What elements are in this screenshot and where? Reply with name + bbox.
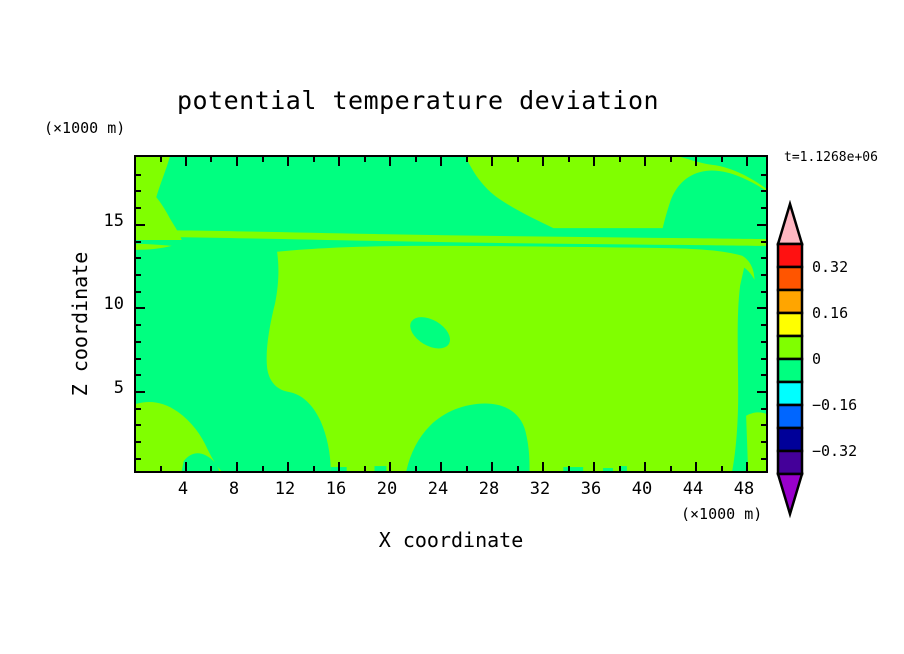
xaxis-top-tick-minor <box>364 157 366 162</box>
yaxis-tick-minor <box>136 257 141 259</box>
xaxis-tick-minor <box>517 466 519 471</box>
yaxis-tick-minor <box>136 291 141 293</box>
yaxis-right-tick-minor <box>761 424 766 426</box>
yaxis-right-tick-major <box>757 391 766 393</box>
xaxis-top-tick-minor <box>210 157 212 162</box>
colorbar-band <box>778 405 802 428</box>
yaxis-tick-minor <box>136 424 141 426</box>
colorbar <box>776 200 810 520</box>
colorbar-swatches <box>776 200 810 520</box>
yaxis-tick-minor <box>136 358 141 360</box>
yaxis-right-tick-major <box>757 224 766 226</box>
colorbar-cap-bottom <box>778 474 802 514</box>
yaxis-tick-major <box>136 224 145 226</box>
yaxis-right-tick-major <box>757 307 766 309</box>
yaxis-tick-major <box>136 391 145 393</box>
xaxis-tick-major <box>695 462 697 471</box>
xaxis-top-tick-major <box>236 157 238 166</box>
yaxis-right-tick-minor <box>761 458 766 460</box>
yaxis-tick-minor <box>136 458 141 460</box>
yaxis-right-tick-minor <box>761 408 766 410</box>
xaxis-tick-label: 20 <box>367 479 407 499</box>
colorbar-band <box>778 267 802 290</box>
xaxis-tick-minor <box>670 466 672 471</box>
xaxis-tick-label: 16 <box>316 479 356 499</box>
colorbar-band <box>778 290 802 313</box>
yaxis-tick-minor <box>136 241 141 243</box>
yaxis-title: Z coordinate <box>68 204 92 444</box>
yaxis-tick-minor <box>136 324 141 326</box>
xaxis-tick-label: 40 <box>622 479 662 499</box>
xaxis-tick-minor <box>415 466 417 471</box>
yaxis-tick-minor <box>136 207 141 209</box>
yaxis-right-tick-minor <box>761 190 766 192</box>
xaxis-title: X coordinate <box>134 528 768 552</box>
xaxis-top-tick-major <box>695 157 697 166</box>
xaxis-top-tick-major <box>389 157 391 166</box>
xaxis-tick-label: 8 <box>214 479 254 499</box>
yaxis-right-tick-minor <box>761 341 766 343</box>
xaxis-top-tick-major <box>593 157 595 166</box>
xaxis-tick-major <box>644 462 646 471</box>
yaxis-right-tick-minor <box>761 257 766 259</box>
xaxis-tick-label: 32 <box>520 479 560 499</box>
page-title: potential temperature deviation <box>0 86 836 115</box>
colorbar-band <box>778 382 802 405</box>
xaxis-top-tick-minor <box>619 157 621 162</box>
xaxis-tick-major <box>491 462 493 471</box>
xaxis-units-label: (×1000 m) <box>681 505 762 523</box>
xaxis-top-tick-major <box>185 157 187 166</box>
yaxis-right-tick-minor <box>761 274 766 276</box>
colorbar-band <box>778 428 802 451</box>
yaxis-right-tick-minor <box>761 207 766 209</box>
xaxis-tick-minor <box>619 466 621 471</box>
colorbar-label: 0.16 <box>812 304 848 322</box>
xaxis-tick-label: 44 <box>673 479 713 499</box>
yaxis-tick-minor <box>136 374 141 376</box>
xaxis-top-tick-minor <box>262 157 264 162</box>
xaxis-tick-label: 36 <box>571 479 611 499</box>
xaxis-tick-label: 28 <box>469 479 509 499</box>
xaxis-tick-major <box>542 462 544 471</box>
xaxis-tick-major <box>389 462 391 471</box>
xaxis-tick-major <box>287 462 289 471</box>
colorbar-band <box>778 313 802 336</box>
xaxis-top-tick-minor <box>160 157 162 162</box>
contour-field <box>136 157 766 471</box>
plot-area <box>134 155 768 473</box>
colorbar-label: 0.32 <box>812 258 848 276</box>
xaxis-tick-major <box>440 462 442 471</box>
xaxis-top-tick-minor <box>568 157 570 162</box>
colorbar-band <box>778 451 802 474</box>
xaxis-top-tick-minor <box>670 157 672 162</box>
yaxis-tick-minor <box>136 441 141 443</box>
yaxis-tick-label: 15 <box>98 211 124 231</box>
xaxis-tick-major <box>185 462 187 471</box>
xaxis-tick-minor <box>568 466 570 471</box>
yaxis-tick-minor <box>136 341 141 343</box>
xaxis-top-tick-minor <box>517 157 519 162</box>
xaxis-top-tick-minor <box>466 157 468 162</box>
xaxis-tick-label: 24 <box>418 479 458 499</box>
yaxis-tick-minor <box>136 174 141 176</box>
xaxis-tick-minor <box>313 466 315 471</box>
yaxis-right-tick-minor <box>761 241 766 243</box>
yaxis-tick-label: 10 <box>98 294 124 314</box>
xaxis-tick-major <box>236 462 238 471</box>
yaxis-right-tick-minor <box>761 374 766 376</box>
xaxis-top-tick-major <box>491 157 493 166</box>
xaxis-tick-major <box>593 462 595 471</box>
xaxis-top-tick-major <box>338 157 340 166</box>
xaxis-tick-label: 4 <box>163 479 203 499</box>
xaxis-top-tick-minor <box>415 157 417 162</box>
yaxis-tick-major <box>136 307 145 309</box>
colorbar-label: −0.32 <box>812 442 857 460</box>
xaxis-tick-minor <box>364 466 366 471</box>
xaxis-top-tick-major <box>542 157 544 166</box>
colorbar-cap-top <box>778 204 802 244</box>
xaxis-tick-minor <box>210 466 212 471</box>
contour-plot-figure: potential temperature deviation (×1000 m… <box>0 0 904 654</box>
xaxis-tick-minor <box>466 466 468 471</box>
colorbar-band <box>778 359 802 382</box>
xaxis-top-tick-major <box>644 157 646 166</box>
xaxis-top-tick-major <box>287 157 289 166</box>
xaxis-top-tick-major <box>440 157 442 166</box>
yaxis-right-tick-minor <box>761 174 766 176</box>
colorbar-band <box>778 336 802 359</box>
colorbar-label: −0.16 <box>812 396 857 414</box>
timestamp-label: t=1.1268e+06 <box>784 150 878 165</box>
yaxis-right-tick-minor <box>761 358 766 360</box>
yaxis-tick-minor <box>136 190 141 192</box>
xaxis-tick-major <box>338 462 340 471</box>
yaxis-right-tick-minor <box>761 291 766 293</box>
xaxis-tick-label: 12 <box>265 479 305 499</box>
yaxis-tick-minor <box>136 408 141 410</box>
yaxis-right-tick-minor <box>761 441 766 443</box>
xaxis-top-tick-minor <box>721 157 723 162</box>
xaxis-top-tick-minor <box>313 157 315 162</box>
yaxis-tick-minor <box>136 274 141 276</box>
yaxis-right-tick-minor <box>761 324 766 326</box>
yaxis-tick-label: 5 <box>98 378 124 398</box>
xaxis-tick-minor <box>721 466 723 471</box>
xaxis-tick-label: 48 <box>724 479 764 499</box>
xaxis-tick-major <box>746 462 748 471</box>
xaxis-tick-minor <box>262 466 264 471</box>
xaxis-top-tick-major <box>746 157 748 166</box>
xaxis-tick-minor <box>160 466 162 471</box>
colorbar-label: 0 <box>812 350 821 368</box>
colorbar-band <box>778 244 802 267</box>
yaxis-units-label: (×1000 m) <box>44 119 125 137</box>
